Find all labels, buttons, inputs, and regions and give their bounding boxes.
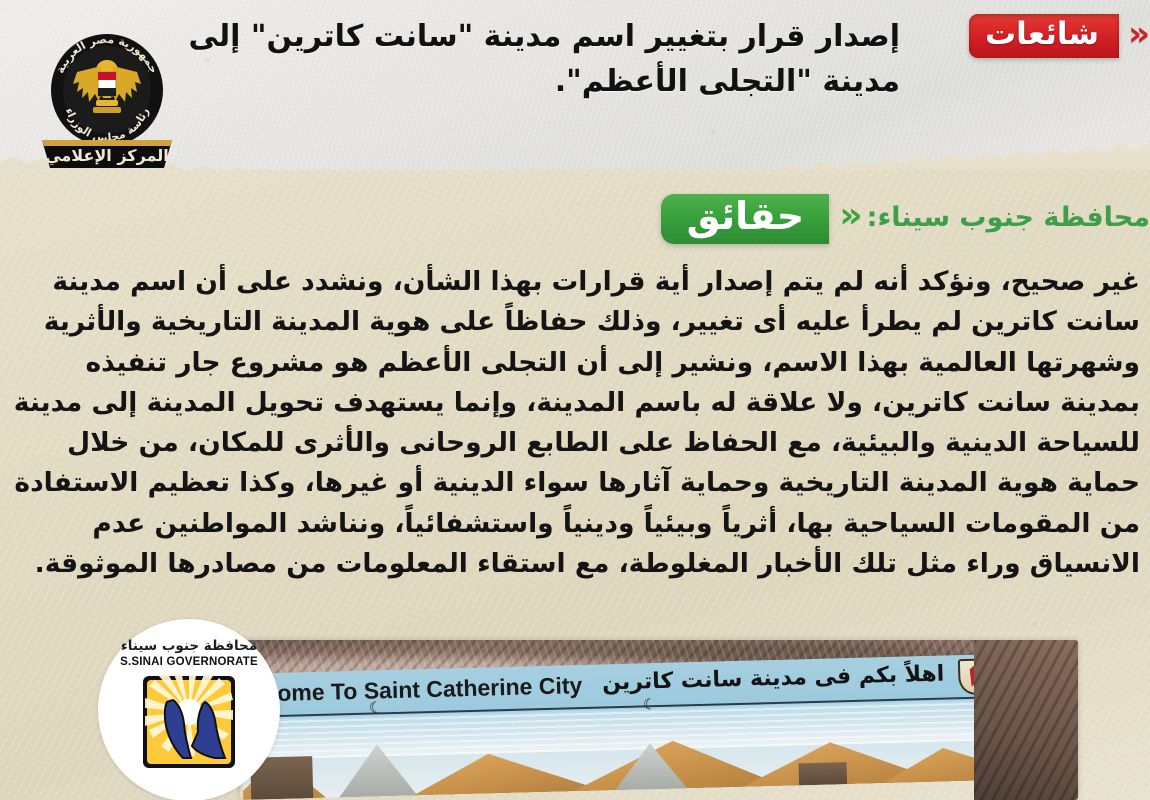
double-chevron-left-icon: « [1128, 17, 1150, 51]
billboard: come To Saint Catherine City اهلاً بكم ف… [240, 654, 1003, 800]
facts-subtitle: محافظة جنوب سيناء: [867, 204, 1150, 231]
billboard-fortress [799, 762, 848, 785]
rumor-badge-pill: شائعات [969, 14, 1119, 58]
facts-badge-label: حقائق [687, 197, 805, 235]
egyptian-cabinet-media-center-logo: جمهورية مصر العربية رئاسة مجلس الوزراء ا… [36, 28, 178, 172]
facts-badge-pill: حقائق [661, 194, 829, 244]
billboard-english-text: come To Saint Catherine City [264, 672, 582, 707]
saint-catherine-welcome-sign-photo: come To Saint Catherine City اهلاً بكم ف… [240, 640, 1078, 800]
governorate-english-label: S.SINAI GOVERNORATE [120, 657, 258, 669]
crescent-icon: ☾ [369, 700, 383, 715]
facts-body-text: غير صحيح، ونؤكد أنه لم يتم إصدار أية قرا… [10, 262, 1140, 584]
rumor-headline: إصدار قرار بتغيير اسم مدينة "سانت كاترين… [160, 14, 900, 104]
rumor-badge-label: شائعات [985, 19, 1099, 50]
facts-badge-row: محافظة جنوب سيناء: « حقائق [661, 194, 1150, 244]
rumor-badge: « شائعات [969, 14, 1150, 58]
svg-text:المركز الإعلامي: المركز الإعلامي [45, 146, 169, 166]
billboard-arabic-text: اهلاً بكم فى مدينة سانت كاترين [602, 662, 945, 696]
double-chevron-left-green-icon: « [839, 198, 862, 234]
south-sinai-governorate-logo: محافظة جنوب سيناء S.SINAI GOVERNORATE [98, 619, 280, 800]
governorate-emblem-icon [141, 674, 237, 770]
fact-check-poster: جمهورية مصر العربية رئاسة مجلس الوزراء ا… [0, 0, 1150, 800]
governorate-arabic-label: محافظة جنوب سيناء [121, 640, 257, 654]
photo-right-rock [974, 640, 1078, 800]
crescent-icon: ☾ [643, 697, 657, 712]
